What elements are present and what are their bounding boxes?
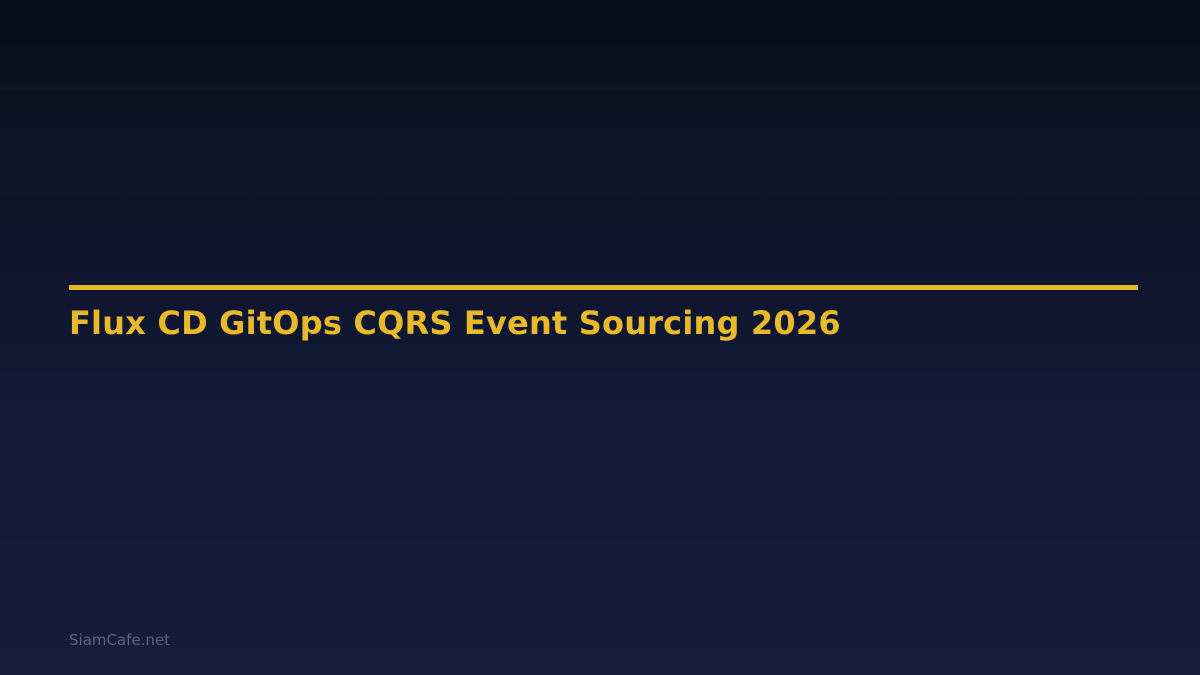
source-watermark: SiamCafe.net [69, 630, 170, 650]
gold-accent-rule [69, 285, 1138, 290]
page-title: Flux CD GitOps CQRS Event Sourcing 2026 [69, 304, 841, 342]
title-slide: Flux CD GitOps CQRS Event Sourcing 2026 … [0, 0, 1200, 675]
